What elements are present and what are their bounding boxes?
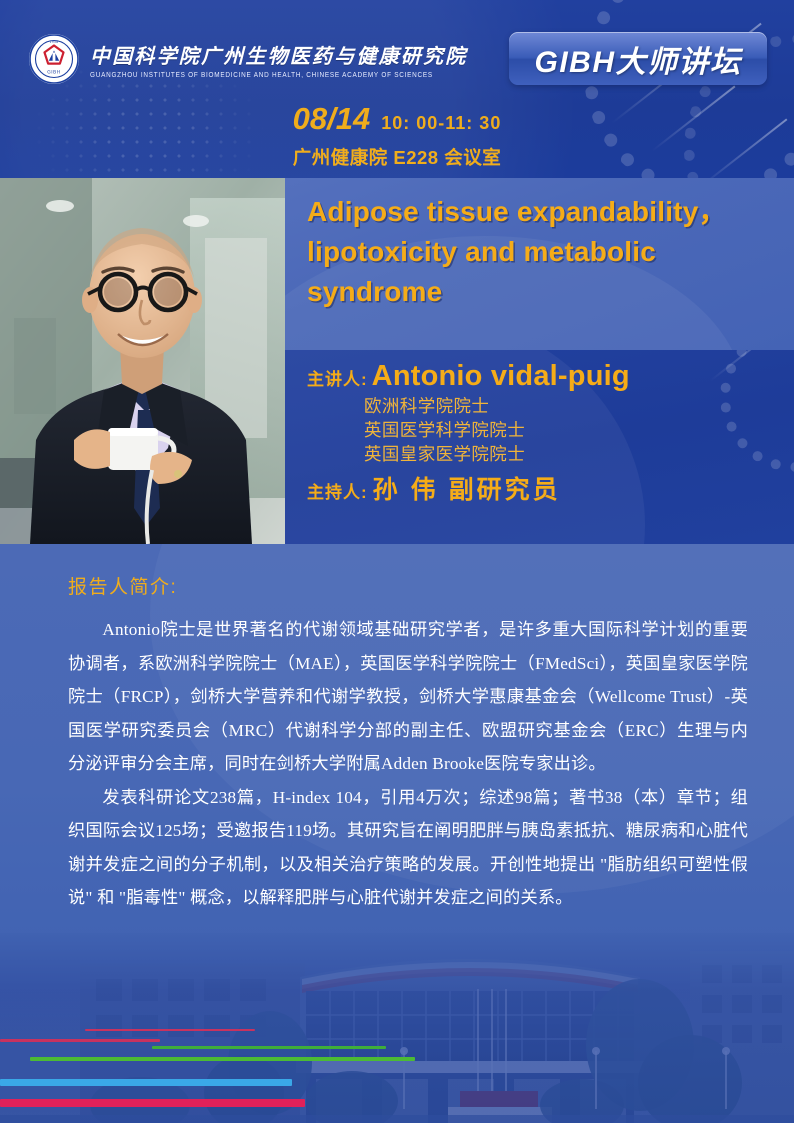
speaker-name-row: 主讲人: Antonio vidal-puig xyxy=(307,360,794,393)
speaker-credentials: 欧洲科学院院士 英国医学科学院院士 英国皇家医学院院士 xyxy=(364,394,794,466)
cas-gibh-logo-icon: GIBH 1958 xyxy=(28,33,80,85)
color-bar xyxy=(30,1057,415,1061)
host-row: 主持人: 孙 伟 副研究员 xyxy=(307,470,794,506)
host-label: 主持人: xyxy=(307,478,368,503)
color-bar xyxy=(0,1079,292,1086)
speaker-info-block: 主讲人: Antonio vidal-puig 欧洲科学院院士 英国医学科学院院… xyxy=(285,350,794,544)
poster-root: GIBH 1958 中国科学院广州生物医药与健康研究院 GUANGZHOU IN… xyxy=(0,0,794,1123)
event-venue: 广州健康院 E228 会议室 xyxy=(0,144,794,170)
gibh-lecture-series-badge: GIBH大师讲坛 xyxy=(509,32,767,85)
institute-logo-text: 中国科学院广州生物医药与健康研究院 GUANGZHOU INSTITUTES O… xyxy=(90,40,467,78)
badge-label: GIBH大师讲坛 xyxy=(535,37,742,81)
color-bar xyxy=(0,1099,305,1107)
speaker-portrait-photo xyxy=(0,178,285,544)
campus-photo-footer xyxy=(0,933,794,1123)
svg-text:GIBH: GIBH xyxy=(47,70,60,76)
decorative-color-bars xyxy=(0,1021,430,1113)
color-bar xyxy=(0,1039,160,1042)
institute-name-cn: 中国科学院广州生物医药与健康研究院 xyxy=(90,40,467,69)
event-date: 08/14 xyxy=(293,103,371,134)
poster-header: GIBH 1958 中国科学院广州生物医药与健康研究院 GUANGZHOU IN… xyxy=(0,0,794,178)
event-datetime-block: 08/14 10: 00-11: 30 广州健康院 E228 会议室 xyxy=(0,103,794,170)
color-bar xyxy=(85,1029,255,1031)
speaker-name: Antonio vidal-puig xyxy=(372,360,630,393)
bio-paragraph: 发表科研论文238篇，H-index 104，引用4万次；综述98篇；著书38（… xyxy=(68,781,748,915)
institute-name-en: GUANGZHOU INSTITUTES OF BIOMEDICINE AND … xyxy=(90,71,467,79)
bio-paragraph: Antonio院士是世界著名的代谢领域基础研究学者，是许多重大国际科学计划的重要… xyxy=(68,613,748,781)
color-bar xyxy=(152,1046,386,1049)
host-name: 孙 伟 副研究员 xyxy=(373,470,561,506)
speaker-bio-section: 报告人简介: Antonio院士是世界著名的代谢领域基础研究学者，是许多重大国际… xyxy=(0,544,794,974)
institute-logo: GIBH 1958 中国科学院广州生物医药与健康研究院 GUANGZHOU IN… xyxy=(28,33,467,85)
speaker-label: 主讲人: xyxy=(307,365,368,390)
bio-heading: 报告人简介: xyxy=(68,572,748,599)
credential-item: 英国皇家医学院院士 xyxy=(364,442,794,466)
credential-item: 欧洲科学院院士 xyxy=(364,394,794,418)
lecture-title: Adipose tissue expandability，lipotoxicit… xyxy=(285,178,794,311)
credential-item: 英国医学科学院院士 xyxy=(364,418,794,442)
lecture-title-block: Adipose tissue expandability，lipotoxicit… xyxy=(285,178,794,350)
svg-text:1958: 1958 xyxy=(49,40,58,44)
event-time: 10: 00-11: 30 xyxy=(381,113,501,134)
